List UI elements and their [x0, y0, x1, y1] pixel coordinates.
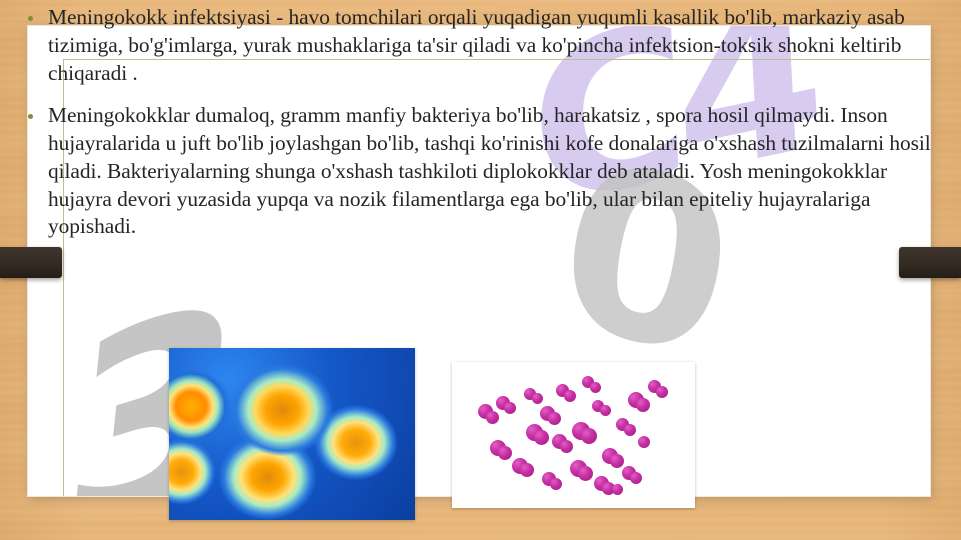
diplococcus-cell — [638, 436, 650, 448]
diplococcus-cell — [498, 446, 512, 460]
diplococcus-cell — [624, 424, 636, 436]
micrograph-meningococci-image — [169, 348, 415, 520]
diplococcus-cell — [564, 390, 576, 402]
diplococcus-cell — [534, 430, 549, 445]
diplococci-cells — [452, 362, 695, 508]
diplococcus-cell — [656, 386, 668, 398]
bullet-list: Meningokokk infektsiyasi - havo tomchila… — [14, 4, 947, 241]
diplococcus-cell — [504, 402, 516, 414]
diplococcus-cell — [532, 393, 543, 404]
diplococcus-cell — [550, 478, 562, 490]
diplococcus-cell — [630, 472, 642, 484]
diplococcus-cell — [610, 454, 624, 468]
diplococcus-cell — [612, 484, 623, 495]
diplococcus-cell — [560, 440, 573, 453]
diplococcus-cell — [548, 412, 561, 425]
diplococcus-cell — [486, 411, 499, 424]
slide-body-text: Meningokokk infektsiyasi - havo tomchila… — [0, 0, 961, 255]
list-item: Meningokokklar dumaloq, gramm manfiy bak… — [14, 102, 947, 242]
diplococcus-cell — [578, 466, 593, 481]
illustration-diplococci-image — [452, 362, 695, 508]
diplococcus-cell — [600, 405, 611, 416]
diplococcus-cell — [636, 398, 650, 412]
diplococcus-cell — [590, 382, 601, 393]
list-item: Meningokokk infektsiyasi - havo tomchila… — [14, 4, 947, 88]
diplococcus-cell — [581, 428, 597, 444]
diplococcus-cell — [520, 463, 534, 477]
slide-canvas: C4 3 0 Meningokokk infektsiyasi - havo t… — [0, 0, 961, 540]
